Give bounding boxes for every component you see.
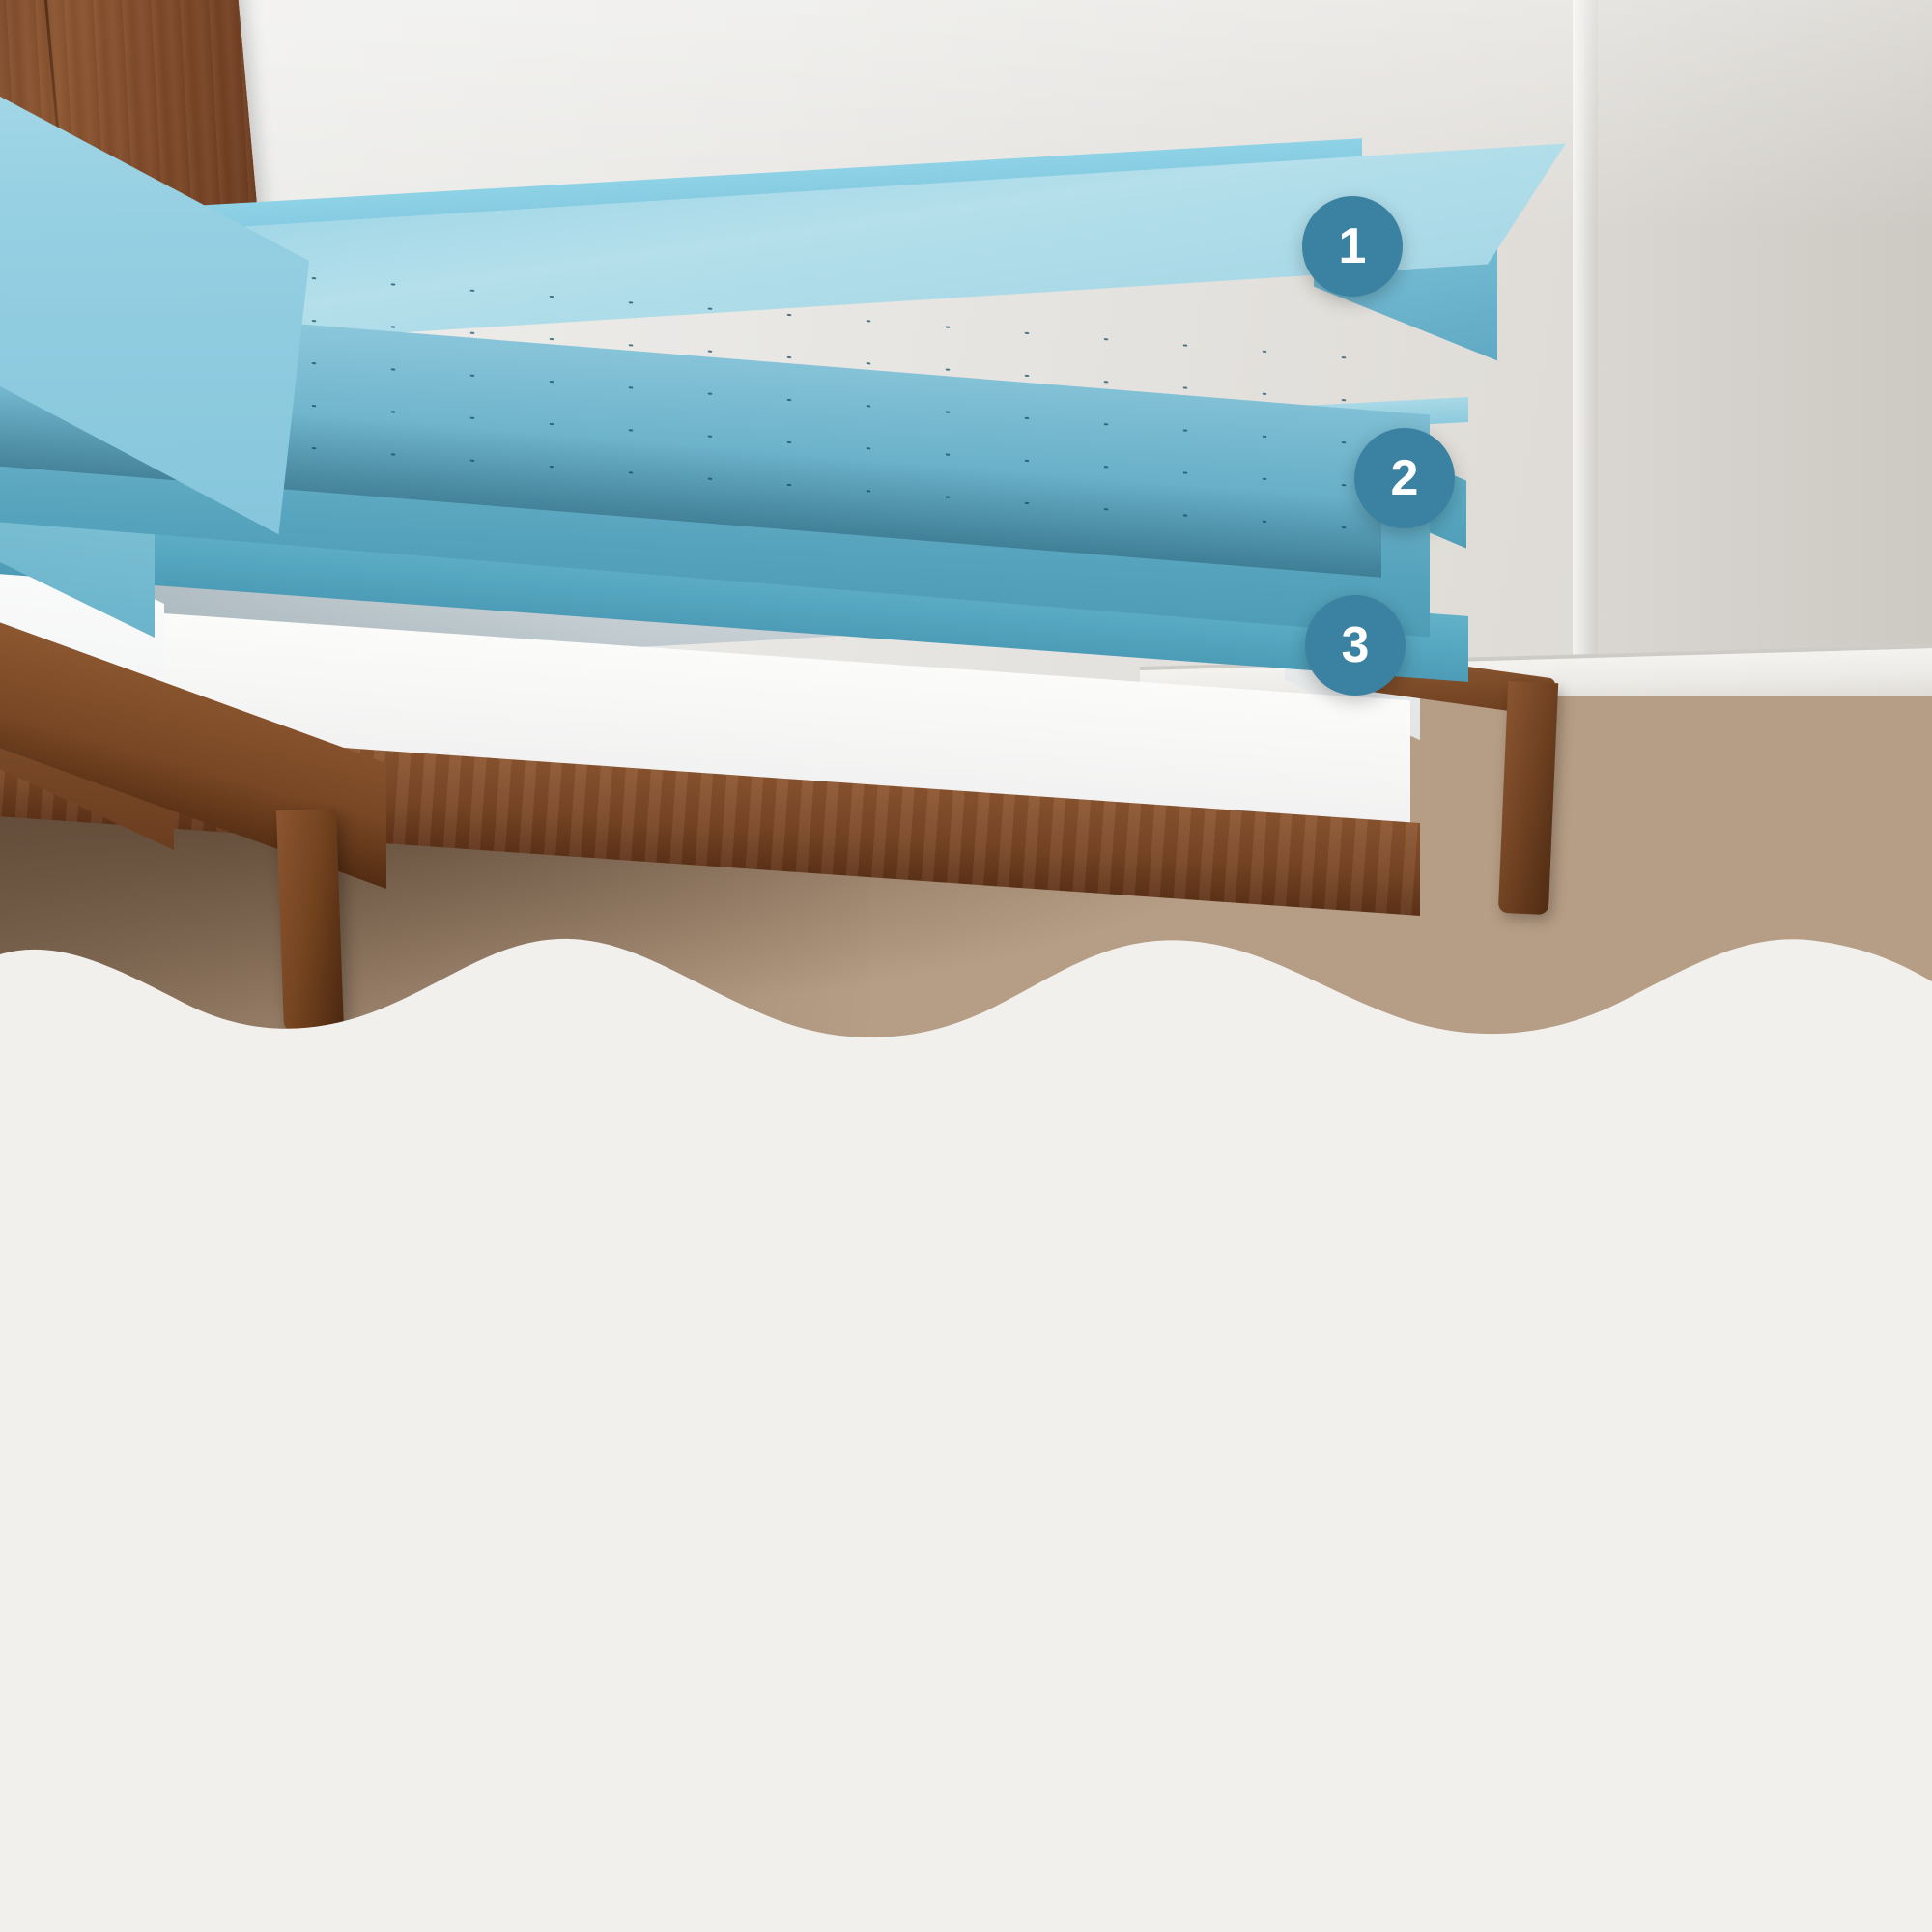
photo-callout-1[interactable]: 1 [1302, 196, 1403, 297]
wave-divider [0, 918, 1932, 1043]
photo-callout-3[interactable]: 3 [1305, 595, 1406, 696]
product-photo: 1 2 3 [0, 0, 1932, 1043]
content-section: What’s Inside 1 Gel Infused Memory Foam … [0, 1043, 1932, 1932]
frame-leg-right [1498, 681, 1558, 915]
photo-callout-2[interactable]: 2 [1354, 428, 1455, 528]
infographic-page: 1 2 3 What’s Inside 1 Gel Infused Memory… [0, 0, 1932, 1932]
